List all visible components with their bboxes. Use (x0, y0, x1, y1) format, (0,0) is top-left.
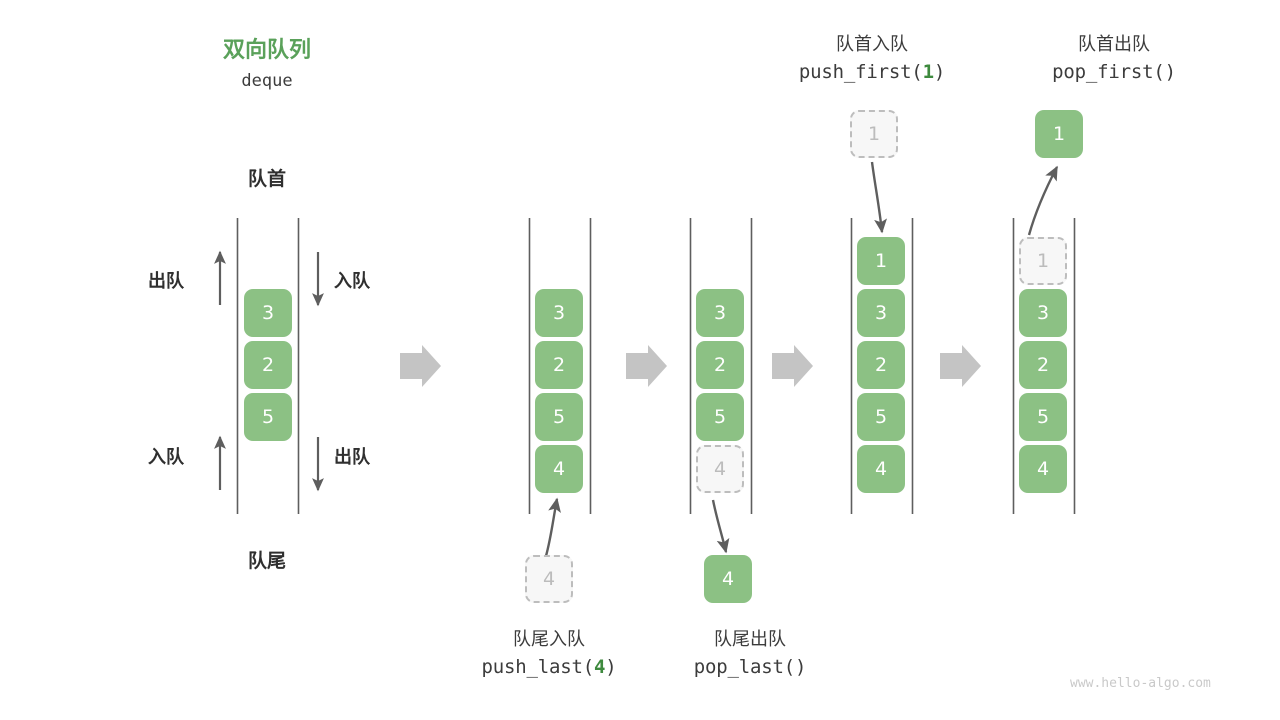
flow-arrow-4 (940, 345, 981, 387)
code-post: ) (934, 61, 945, 83)
code-arg: 4 (594, 656, 605, 678)
rear-label: 队尾 (207, 546, 327, 573)
stack-cell: 4 (1019, 445, 1067, 493)
stack-cell: 2 (244, 341, 292, 389)
flow-arrow-3 (772, 345, 813, 387)
deque-diagram: 双向队列 deque 队首 队尾 出队 入队 入队 出队 3 2 5 3 2 5… (0, 0, 1280, 720)
code-post: ) (1165, 61, 1176, 83)
pop-first-arrow (1029, 167, 1057, 235)
push-last-arrow (546, 499, 557, 556)
caption-pop-last: 队尾出队 pop_last() (630, 625, 870, 678)
stack-cell: 5 (535, 393, 583, 441)
code-pre: pop_first( (1052, 61, 1164, 83)
code-pre: push_last( (482, 656, 594, 678)
stack-cell: 3 (696, 289, 744, 337)
op-label-rear-dequeue: 出队 (334, 443, 370, 469)
stack-cell-ghost: 1 (1019, 237, 1067, 285)
stack-cell: 2 (857, 341, 905, 389)
code-post: ) (795, 656, 806, 678)
front-label: 队首 (207, 164, 327, 191)
code-post: ) (605, 656, 616, 678)
floating-value-box: 1 (1035, 110, 1083, 158)
page-subtitle-code: deque (167, 71, 367, 91)
op-label-front-enqueue: 入队 (334, 267, 370, 293)
pop-last-arrow (713, 500, 726, 552)
stack-cell-ghost: 4 (696, 445, 744, 493)
op-label-rear-enqueue: 入队 (148, 443, 184, 469)
stack-cell: 2 (696, 341, 744, 389)
code-pre: push_first( (799, 61, 923, 83)
caption-pop-first-code: pop_first() (994, 61, 1234, 83)
stack-cell: 3 (857, 289, 905, 337)
stack-cell: 5 (857, 393, 905, 441)
stack-cell: 5 (244, 393, 292, 441)
code-pre: pop_last( (694, 656, 795, 678)
stack-cell: 4 (857, 445, 905, 493)
caption-push-first-cn: 队首入队 (752, 30, 992, 56)
caption-pop-first-cn: 队首出队 (994, 30, 1234, 56)
code-arg: 1 (923, 61, 934, 83)
caption-push-first-code: push_first(1) (752, 61, 992, 83)
caption-pop-last-cn: 队尾出队 (630, 625, 870, 651)
stack-cell: 2 (1019, 341, 1067, 389)
page-title: 双向队列 (167, 32, 367, 64)
stack-cell: 3 (244, 289, 292, 337)
push-first-arrow (872, 162, 882, 232)
diagram-vector-layer (0, 0, 1280, 720)
stack-cell: 5 (696, 393, 744, 441)
stack-cell: 1 (857, 237, 905, 285)
caption-pop-first: 队首出队 pop_first() (994, 30, 1234, 83)
stack-cell: 5 (1019, 393, 1067, 441)
op-label-front-dequeue: 出队 (148, 267, 184, 293)
flow-arrow-1 (400, 345, 441, 387)
stack-cell: 3 (535, 289, 583, 337)
floating-value-box: 4 (525, 555, 573, 603)
flow-arrow-2 (626, 345, 667, 387)
stack-cell: 3 (1019, 289, 1067, 337)
floating-value-box: 1 (850, 110, 898, 158)
watermark: www.hello-algo.com (1070, 676, 1211, 691)
floating-value-box: 4 (704, 555, 752, 603)
stack-cell: 2 (535, 341, 583, 389)
caption-push-first: 队首入队 push_first(1) (752, 30, 992, 83)
caption-pop-last-code: pop_last() (630, 656, 870, 678)
stack-cell: 4 (535, 445, 583, 493)
